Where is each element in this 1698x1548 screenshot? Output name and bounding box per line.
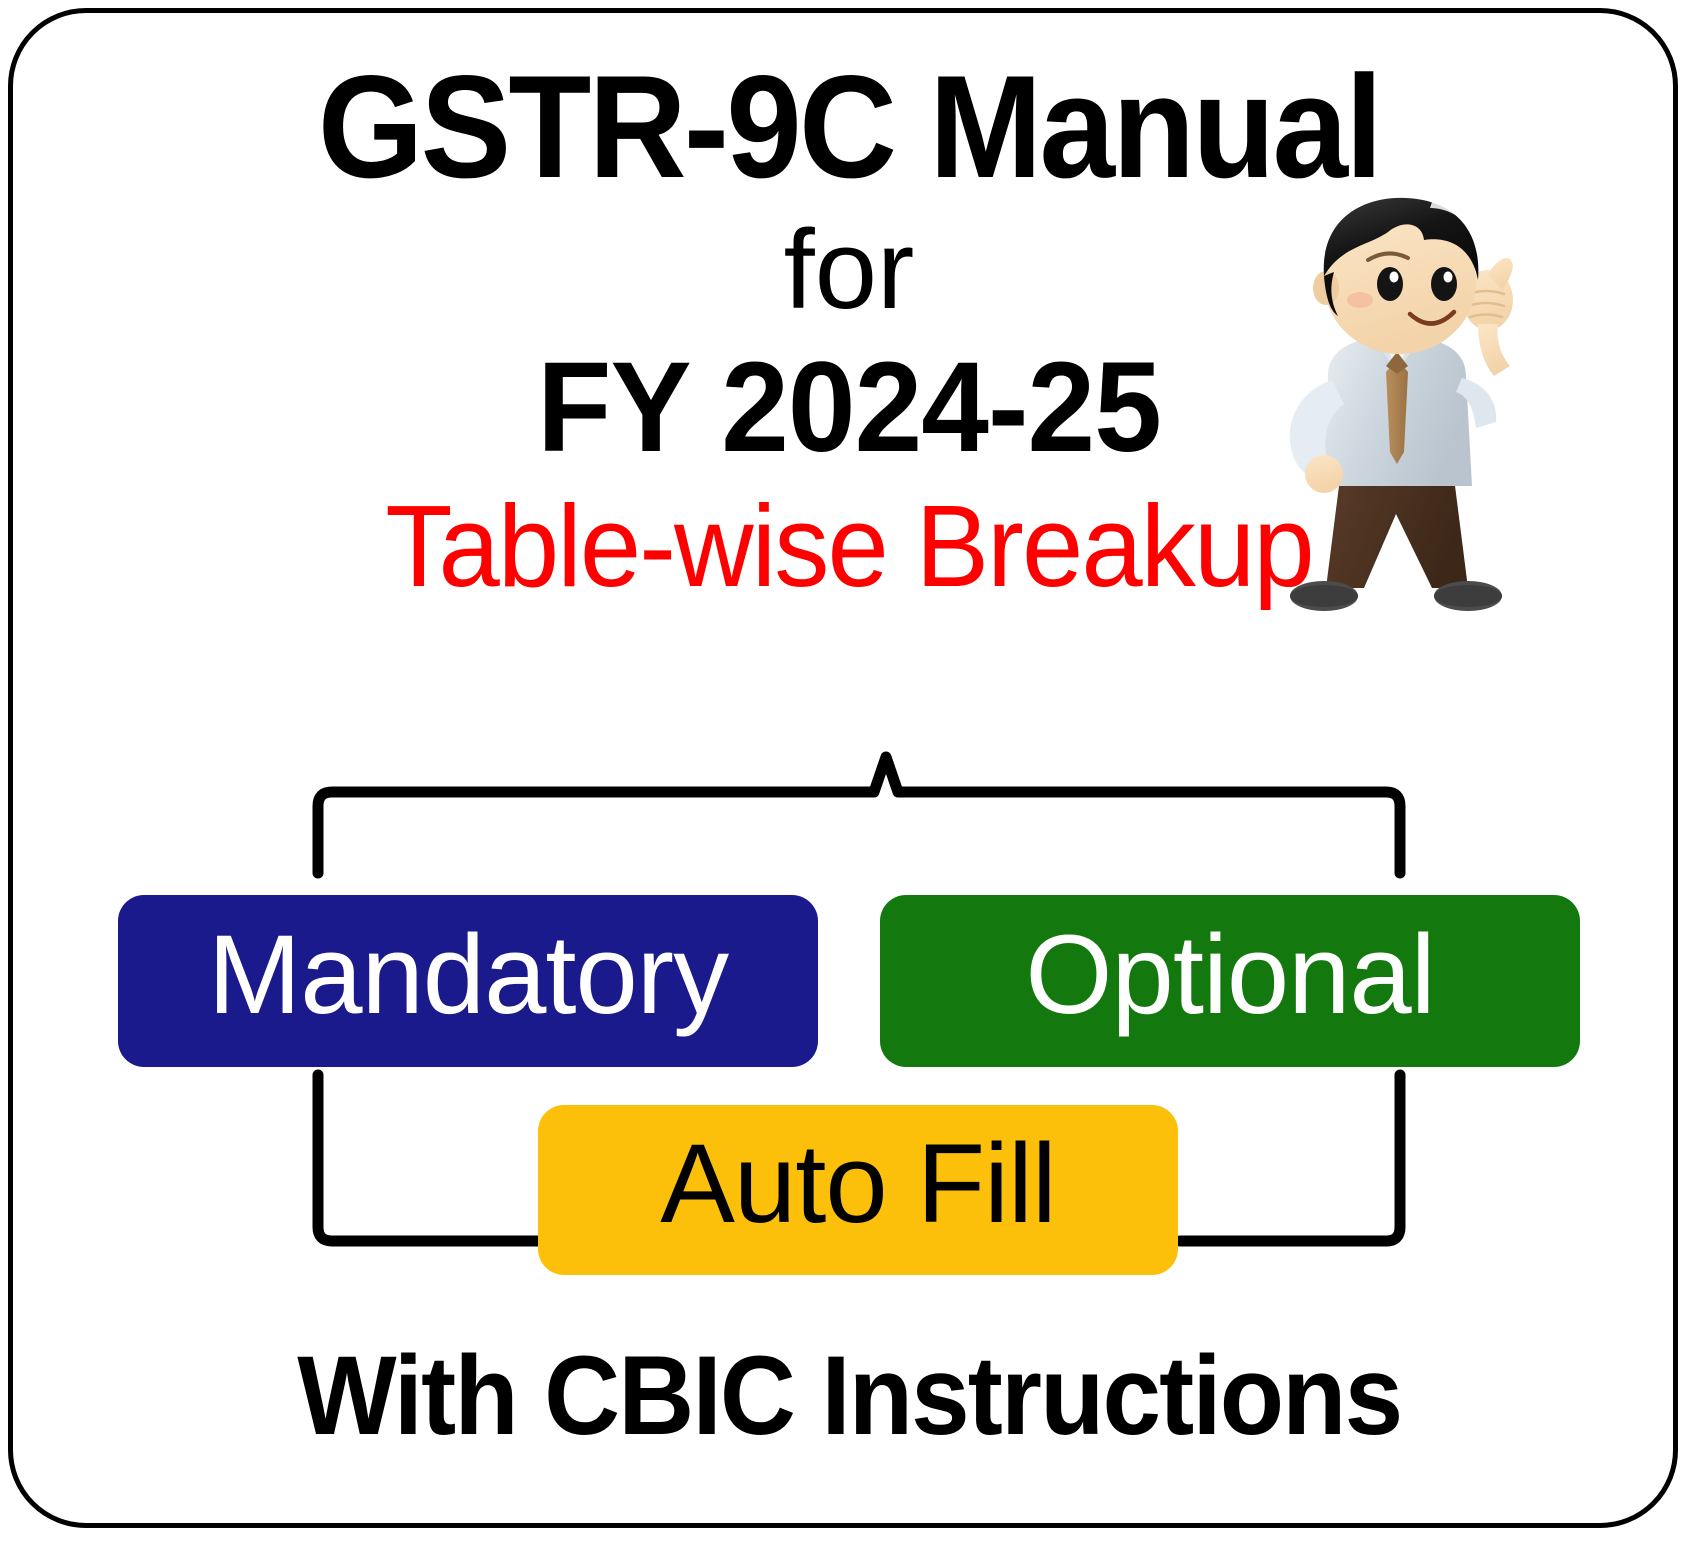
businessman-thumbs-up-icon [1272, 196, 1522, 648]
chip-optional[interactable]: Optional [880, 895, 1580, 1067]
chip-auto-fill[interactable]: Auto Fill [538, 1105, 1178, 1275]
footer-cbic-instructions: With CBIC Instructions [297, 1340, 1401, 1452]
footer-block: With CBIC Instructions [0, 1340, 1698, 1452]
chip-mandatory[interactable]: Mandatory [118, 895, 818, 1067]
chip-mandatory-label: Mandatory [208, 919, 728, 1031]
chip-auto-fill-label: Auto Fill [660, 1128, 1056, 1240]
chip-optional-label: Optional [1025, 919, 1434, 1031]
poster-canvas: GSTR-9C Manual for FY 2024-25 Table-wise… [0, 0, 1698, 1548]
